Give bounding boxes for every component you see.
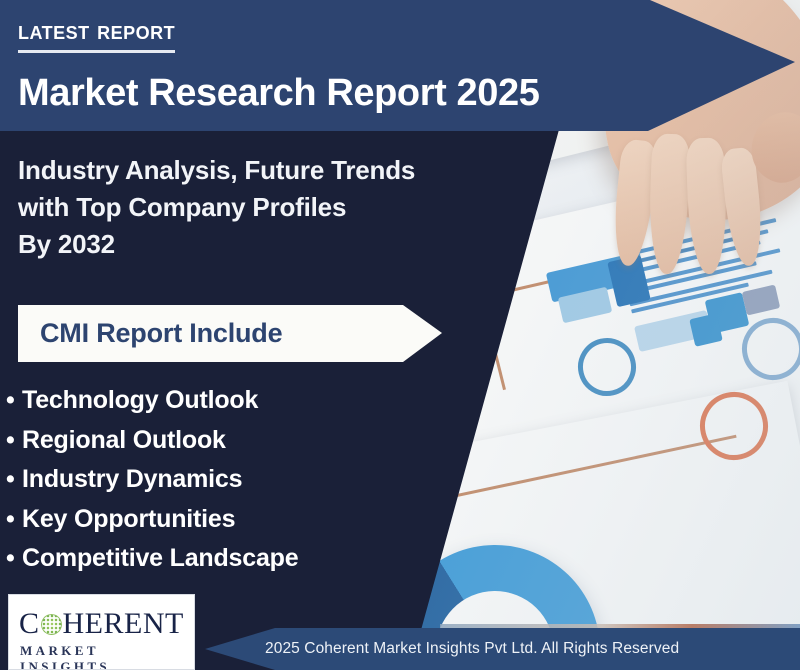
logo-letters-herent: HERENT bbox=[63, 609, 184, 639]
list-item-label: Technology Outlook bbox=[22, 386, 258, 414]
bullet-icon: • bbox=[6, 460, 22, 500]
coherent-market-insights-logo: C HERENT MARKET INSIGHTS bbox=[8, 594, 195, 670]
report-include-list: •Technology Outlook •Regional Outlook •I… bbox=[6, 381, 298, 579]
list-item: •Competitive Landscape bbox=[6, 539, 298, 579]
kicker-label: Latest Report bbox=[18, 18, 175, 53]
bullet-icon: • bbox=[6, 539, 22, 579]
copyright-text: 2025 Coherent Market Insights Pvt Ltd. A… bbox=[265, 640, 785, 658]
cmi-report-include-banner: CMI Report Include bbox=[18, 305, 442, 362]
list-item-label: Regional Outlook bbox=[22, 426, 226, 454]
subtitle-block: Industry Analysis, Future Trends with To… bbox=[18, 152, 415, 264]
subtitle-line-3: By 2032 bbox=[18, 226, 415, 263]
report-poster: Latest Report Market Research Report 202… bbox=[0, 0, 800, 670]
list-item: •Technology Outlook bbox=[6, 381, 298, 421]
subtitle-line-1: Industry Analysis, Future Trends bbox=[18, 152, 415, 189]
list-item-label: Competitive Landscape bbox=[22, 544, 298, 572]
list-item-label: Industry Dynamics bbox=[22, 465, 242, 493]
logo-tagline: MARKET INSIGHTS bbox=[20, 643, 194, 670]
subtitle-line-2: with Top Company Profiles bbox=[18, 189, 415, 226]
bullet-icon: • bbox=[6, 500, 22, 540]
list-item: •Industry Dynamics bbox=[6, 460, 298, 500]
logo-letter-c: C bbox=[19, 609, 40, 639]
list-item: •Key Opportunities bbox=[6, 500, 298, 540]
bullet-icon: • bbox=[6, 381, 22, 421]
list-item-label: Key Opportunities bbox=[22, 505, 235, 533]
list-item: •Regional Outlook bbox=[6, 421, 298, 461]
banner-label: CMI Report Include bbox=[18, 318, 282, 349]
logo-wordmark: C HERENT bbox=[19, 609, 184, 639]
logo-dot-globe-icon bbox=[41, 614, 62, 635]
bullet-icon: • bbox=[6, 421, 22, 461]
page-title: Market Research Report 2025 bbox=[18, 72, 539, 115]
